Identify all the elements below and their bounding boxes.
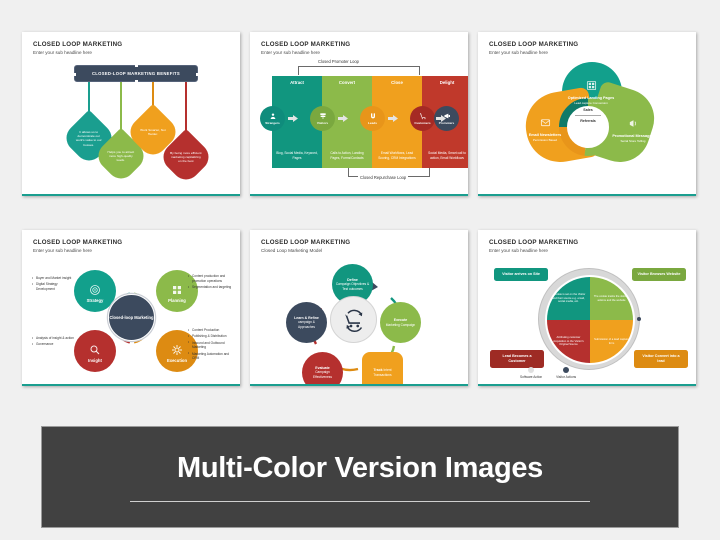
lobe-caption-2: Serial Store Telling — [610, 140, 656, 144]
slide-thumbnail-2[interactable]: CLOSED LOOP MARKETING Enter your sub hea… — [250, 32, 468, 196]
core-label-sales: Sales — [571, 108, 605, 112]
slide-thumbnail-1[interactable]: CLOSED LOOP MARKETING Enter your sub hea… — [22, 32, 240, 196]
quadrant-attribution-label: Attributing customer Acquisition to the … — [551, 336, 587, 347]
callout-visitor-browses[interactable]: Visitor Browses Website — [632, 268, 686, 281]
node-evaluate-rest: Campaign Effectiveness — [313, 370, 332, 378]
bullet-item: Content production and promotion operati… — [188, 274, 234, 284]
slide-header: CLOSED LOOP MARKETING Closed Loop Market… — [261, 239, 350, 253]
legend-dot-software — [528, 367, 534, 373]
page-title: CLOSED LOOP MARKETING — [489, 41, 578, 48]
callout-visitor-arrives-label: Visitor arrives on Site — [502, 272, 540, 276]
page-subtitle: Enter your sub headline here — [489, 50, 578, 55]
callout-visitor-browses-label: Visitor Browses Website — [638, 272, 681, 276]
callout-visitor-converts[interactable]: Visitor Convert into a lead — [634, 350, 688, 368]
legend-item-visitor-actions: Visitor Actions — [556, 367, 576, 379]
callout-visitor-arrives[interactable]: Visitor arrives on Site — [494, 268, 548, 281]
node-evaluate-label: Evaluate Campaign Effectiveness — [306, 366, 340, 380]
connector-stem-2 — [120, 82, 122, 132]
grid-icon — [171, 284, 183, 296]
node-define-bold: Define — [347, 278, 358, 282]
stage-node-strangers-label: Strangers — [265, 121, 279, 125]
center-node[interactable]: Closed-loop Marketing — [108, 294, 155, 341]
node-insight-label: Insight — [88, 358, 102, 363]
bullet-item: Marketing Automation and CRM — [188, 352, 236, 362]
slide-thumbnail-5[interactable]: CLOSED LOOP MARKETING Closed Loop Market… — [250, 230, 468, 386]
slide-header: CLOSED LOOP MARKETING Enter your sub hea… — [261, 41, 350, 55]
slide-header: CLOSED LOOP MARKETING Enter your sub hea… — [489, 239, 578, 253]
arrow-icon-4 — [436, 115, 446, 122]
stage-node-customers-label: Customers — [414, 121, 430, 125]
core-labels: Sales Referrals — [571, 108, 605, 123]
page-title: CLOSED LOOP MARKETING — [261, 41, 350, 48]
benefit-tag-2-label: Helps you to attract more high-quality l… — [105, 150, 137, 163]
resize-handle-right[interactable] — [196, 73, 199, 76]
slide-canvas: Define Campaign Objectives & Test outcom… — [250, 254, 468, 380]
legend: Software Action Visitor Actions — [520, 367, 576, 379]
node-execute-rest: Marketing Campaign — [386, 323, 415, 327]
lobe-caption-3: Permission Based — [522, 139, 568, 143]
callout-lead-becomes-customer[interactable]: Lead Becomes a Customer — [490, 350, 544, 368]
benefit-tag-4-label: By being more efficient marketing capita… — [170, 151, 202, 164]
resize-handle-bottom[interactable] — [135, 80, 138, 83]
bullet-item: Buyer and Market insight — [32, 276, 74, 281]
node-track-label: Track Intent Transactions — [366, 368, 400, 377]
bullet-item: Governance — [32, 342, 74, 347]
funnel-column-close-footer: Email Workflows, Lead Scoring, CRM Integ… — [376, 151, 418, 160]
connector-stem-4 — [185, 82, 187, 132]
lobe-label-promotional-messages: Promotional Messages Serial Store Tellin… — [610, 116, 656, 144]
person-icon — [269, 112, 277, 120]
quadrant-cookie-tracks-label: The cookie tracks the visitor's actions … — [594, 295, 630, 302]
outer-ring: A cookie is set on the Visitor and their… — [538, 268, 640, 370]
slide-canvas: Strategy Planning Insight Execution — [22, 254, 240, 380]
layout-icon — [586, 80, 597, 91]
benefit-tag-1-label: It allows us to demonstrate our work's v… — [73, 130, 105, 147]
bullets-execution: Content Production Publishing & Distribu… — [188, 328, 236, 363]
quadrant-form-submission-label: Submission of a lead capture form — [594, 338, 630, 345]
page-subtitle: Enter your sub headline here — [33, 248, 122, 253]
stage-node-visitors[interactable]: Visitors — [310, 106, 335, 131]
closed-promoter-loop-bracket — [298, 66, 420, 75]
page-title: CLOSED LOOP MARKETING — [33, 41, 122, 48]
banner-title: Multi-Color Version Images — [177, 452, 543, 485]
page-subtitle: Enter your sub headline here — [33, 50, 122, 55]
slide-header: CLOSED LOOP MARKETING Enter your sub hea… — [489, 41, 578, 55]
benefits-banner-label: CLOSED-LOOP MARKETING BENEFITS — [92, 71, 180, 76]
stage-node-strangers[interactable]: Strangers — [260, 106, 285, 131]
benefits-banner[interactable]: CLOSED-LOOP MARKETING BENEFITS — [74, 65, 198, 82]
bottom-banner: Multi-Color Version Images — [41, 426, 679, 528]
quadrant-cookie-set-label: A cookie is set on the Visitor and their… — [551, 293, 587, 304]
slide-thumbnail-3[interactable]: CLOSED LOOP MARKETING Enter your sub hea… — [478, 32, 696, 196]
page-title: CLOSED LOOP MARKETING — [33, 239, 122, 246]
funnel-column-convert-footer: Calls to Action, Landing Pages, Forms/Co… — [326, 151, 368, 160]
core-label-referrals: Referrals — [571, 119, 605, 123]
page-subtitle: Enter your sub headline here — [261, 50, 350, 55]
closed-promoter-loop-label: Closed Promoter Loop — [316, 59, 361, 64]
speaker-icon — [628, 118, 639, 129]
legend-item-software-action: Software Action — [520, 367, 542, 379]
legend-dot-visitor — [563, 367, 569, 373]
slide-thumbnail-4[interactable]: CLOSED LOOP MARKETING Enter your sub hea… — [22, 230, 240, 386]
node-execute[interactable]: Execute Marketing Campaign — [380, 302, 421, 343]
resize-handle-top[interactable] — [135, 64, 138, 67]
core-divider — [575, 115, 601, 116]
magnet-icon — [369, 112, 377, 120]
node-learn-refine[interactable]: Learn & Refine campaign & Approaches — [286, 302, 327, 343]
node-track[interactable]: Track Intent Transactions — [362, 352, 403, 386]
gear-icon — [171, 344, 183, 356]
node-planning-label: Planning — [168, 298, 186, 303]
funnel-column-attract-header: Attract — [272, 76, 322, 89]
node-execute-bold: Execute — [394, 318, 407, 322]
funnel-column-close-header: Close — [372, 76, 422, 89]
stage-node-leads-label: Leads — [368, 121, 377, 125]
bullets-insight: Analysis of insight & action Governance — [32, 336, 74, 349]
quadrant-form-submission[interactable]: Submission of a lead capture form — [590, 320, 633, 363]
lobe-label-email-newsletters: Email Newsletters Permission Based — [522, 115, 568, 143]
page-subtitle: Closed Loop Marketing Model — [261, 248, 350, 253]
node-learn-refine-bold: Learn & Refine — [294, 316, 319, 320]
search-icon — [89, 344, 101, 356]
cart-icon — [419, 112, 427, 120]
callout-visitor-converts-label: Visitor Convert into a lead — [642, 354, 679, 363]
node-insight[interactable]: Insight — [74, 330, 116, 372]
bullet-item: Digital Strategy Development — [32, 282, 74, 292]
hub-circle[interactable] — [330, 296, 377, 343]
funnel-column-delight-footer: Social Media, Smart call to action, Emai… — [426, 151, 468, 160]
lobe-label-optimized-landing-pages: Optimized Landing Pages Lead capture Con… — [562, 78, 620, 106]
legend-label-software: Software Action — [520, 375, 542, 379]
arrow-icon-3 — [388, 115, 398, 122]
bullet-item: Content Production — [188, 328, 236, 333]
bullets-planning: Content production and promotion operati… — [188, 274, 234, 291]
triangle-diagram: Sales Referrals Optimized Landing Pages … — [518, 60, 658, 185]
bullet-item: Analysis of insight & action — [32, 336, 74, 341]
bullets-strategy: Buyer and Market insight Digital Strateg… — [32, 276, 74, 293]
node-evaluate-bold: Evaluate — [315, 366, 329, 370]
node-define-rest: Campaign Objectives & Test outcomes — [336, 282, 369, 290]
stage-node-visitors-label: Visitors — [317, 121, 328, 125]
legend-label-visitor: Visitor Actions — [556, 375, 576, 379]
page-title: CLOSED LOOP MARKETING — [261, 239, 350, 246]
stage-node-leads[interactable]: Leads — [360, 106, 385, 131]
node-track-bold: Track — [373, 368, 382, 372]
stage-node-customers[interactable]: Customers — [410, 106, 435, 131]
node-evaluate[interactable]: Evaluate Campaign Effectiveness — [302, 352, 343, 386]
center-node-label: Closed-loop Marketing — [109, 315, 153, 321]
slide-canvas: A cookie is set on the Visitor and their… — [478, 254, 696, 380]
cart-refresh-icon — [342, 308, 366, 332]
target-icon — [89, 284, 101, 296]
quadrant-cookie-tracks[interactable]: The cookie tracks the visitor's actions … — [590, 277, 633, 320]
arrow-icon-2 — [338, 115, 348, 122]
slide-canvas: Sales Referrals Optimized Landing Pages … — [478, 56, 696, 190]
node-define-label: Define Campaign Objectives & Test outcom… — [336, 278, 370, 292]
bullet-item: Segmentation and targeting — [188, 285, 234, 290]
page-subtitle: Enter your sub headline here — [489, 248, 578, 253]
node-learn-refine-rest: campaign & Approaches — [298, 320, 315, 328]
signpost-icon — [319, 112, 327, 120]
funnel-column-convert-header: Convert — [322, 76, 372, 89]
slide-header: CLOSED LOOP MARKETING Enter your sub hea… — [33, 239, 122, 253]
funnel-column-delight-header: Delight — [422, 76, 468, 89]
node-strategy-label: Strategy — [87, 298, 104, 303]
quadrant-cookie-set[interactable]: A cookie is set on the Visitor and their… — [547, 277, 590, 320]
slide-canvas: CLOSED-LOOP MARKETING BENEFITS It allows… — [22, 56, 240, 190]
envelope-icon — [540, 117, 551, 128]
arrow-icon-1 — [288, 115, 298, 122]
node-execution-label: Execution — [167, 358, 187, 363]
benefit-tag-3-label: Work Smarter, Not Harder. — [137, 128, 169, 136]
quadrant-chart: A cookie is set on the Visitor and their… — [547, 277, 633, 363]
bullet-item: Inbound and Outbound Marketing — [188, 341, 236, 351]
page-title: CLOSED LOOP MARKETING — [489, 239, 578, 246]
slide-canvas: Closed Promoter Loop Closed Repurchase L… — [250, 56, 468, 190]
callout-lead-becomes-customer-label: Lead Becomes a Customer — [502, 354, 531, 363]
bullet-item: Publishing & Distribution — [188, 334, 236, 339]
banner-divider — [130, 501, 590, 502]
node-learn-refine-label: Learn & Refine campaign & Approaches — [290, 316, 324, 330]
lobe-caption-1: Lead capture Conversion — [562, 102, 620, 106]
slide-header: CLOSED LOOP MARKETING Enter your sub hea… — [33, 41, 122, 55]
resize-handle-left[interactable] — [73, 73, 76, 76]
ring-marker-right — [637, 317, 641, 321]
slide-thumbnail-6[interactable]: CLOSED LOOP MARKETING Enter your sub hea… — [478, 230, 696, 386]
slide-grid: CLOSED LOOP MARKETING Enter your sub hea… — [0, 0, 720, 400]
node-execute-label: Execute Marketing Campaign — [384, 318, 418, 327]
funnel-column-attract-footer: Blog, Social Media, Keyword, Pages — [276, 151, 318, 160]
closed-repurchase-loop-label: Closed Repurchase Loop — [358, 175, 408, 180]
quadrant-attribution[interactable]: Attributing customer Acquisition to the … — [547, 320, 590, 363]
